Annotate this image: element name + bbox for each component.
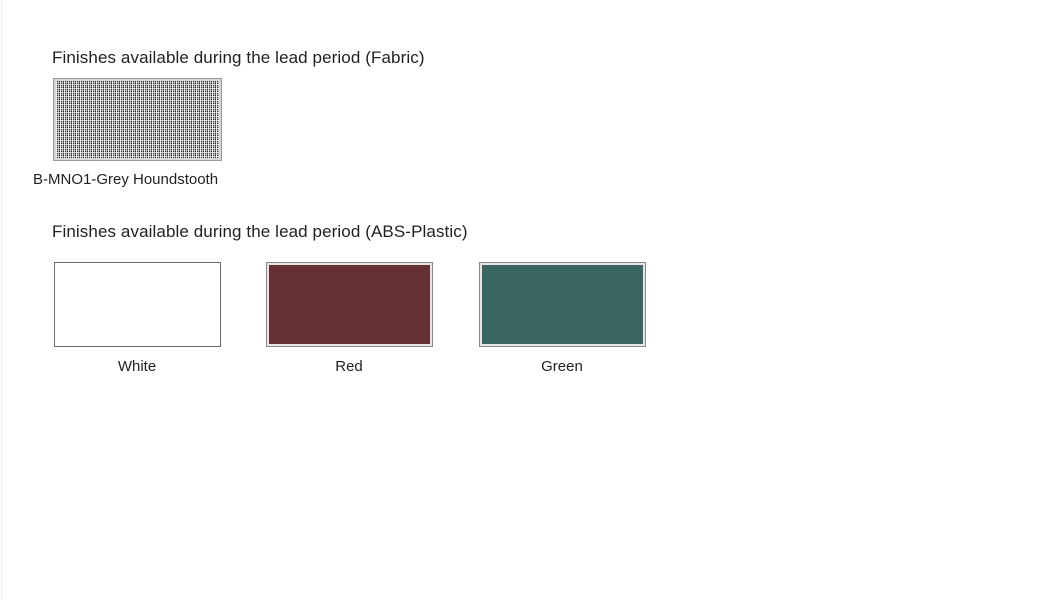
- finishes-page: Finishes available during the lead perio…: [0, 0, 1050, 600]
- color-swatch-label-green: Green: [467, 358, 657, 376]
- plastic-section-heading: Finishes available during the lead perio…: [52, 222, 468, 242]
- fabric-swatch-grey-houndstooth[interactable]: [54, 79, 221, 160]
- color-swatch-label-white: White: [42, 358, 232, 376]
- color-swatch-red[interactable]: [266, 262, 433, 347]
- color-swatch-white[interactable]: [54, 262, 221, 347]
- swatch-cell-red: Red: [254, 262, 444, 376]
- fabric-swatch-group: [54, 79, 221, 160]
- plastic-swatch-row: White Red Green: [0, 262, 1050, 382]
- color-swatch-label-red: Red: [254, 358, 444, 376]
- swatch-cell-white: White: [42, 262, 232, 376]
- fabric-swatch-label: B-MNO1-Grey Houndstooth: [33, 171, 218, 189]
- fabric-section-heading: Finishes available during the lead perio…: [52, 48, 425, 68]
- color-swatch-green[interactable]: [479, 262, 646, 347]
- swatch-cell-green: Green: [467, 262, 657, 376]
